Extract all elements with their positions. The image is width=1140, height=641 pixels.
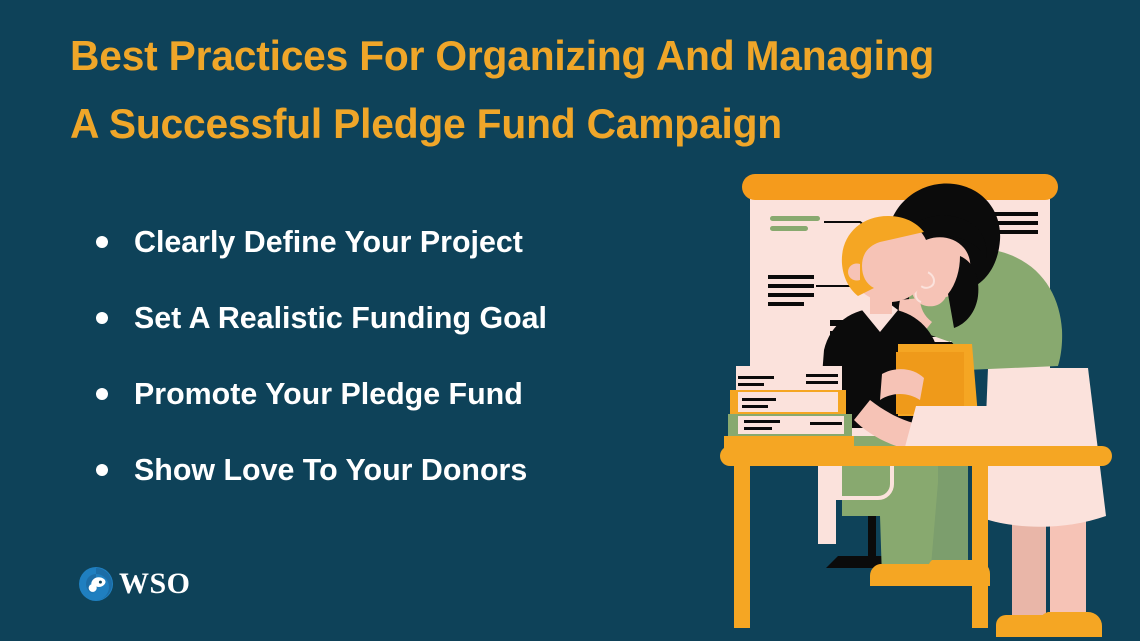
list-item-label: Set A Realistic Funding Goal [134,301,547,335]
list-item: Promote Your Pledge Fund [96,356,736,432]
list-item-label: Promote Your Pledge Fund [134,377,523,411]
title-line-1: Best Practices For Organizing And Managi… [70,22,1040,90]
bullet-dot-icon [96,464,108,476]
title-line-2: A Successful Pledge Fund Campaign [70,90,1040,158]
wso-wordmark: WSO [119,569,191,599]
list-item-label: Clearly Define Your Project [134,225,523,259]
page-title: Best Practices For Organizing And Managi… [70,22,1070,158]
bullet-dot-icon [96,312,108,324]
list-item: Show Love To Your Donors [96,432,736,508]
book-stack [724,366,854,448]
wso-logo: WSO [78,566,191,602]
illustration-two-people-chart [720,160,1140,641]
best-practices-list: Clearly Define Your Project Set A Realis… [96,204,736,508]
wso-monkey-circle-icon [78,566,114,602]
list-item: Clearly Define Your Project [96,204,736,280]
list-item: Set A Realistic Funding Goal [96,280,736,356]
bullet-dot-icon [96,388,108,400]
list-item-label: Show Love To Your Donors [134,453,527,487]
bullet-dot-icon [96,236,108,248]
infographic-slide: Best Practices For Organizing And Managi… [0,0,1140,641]
